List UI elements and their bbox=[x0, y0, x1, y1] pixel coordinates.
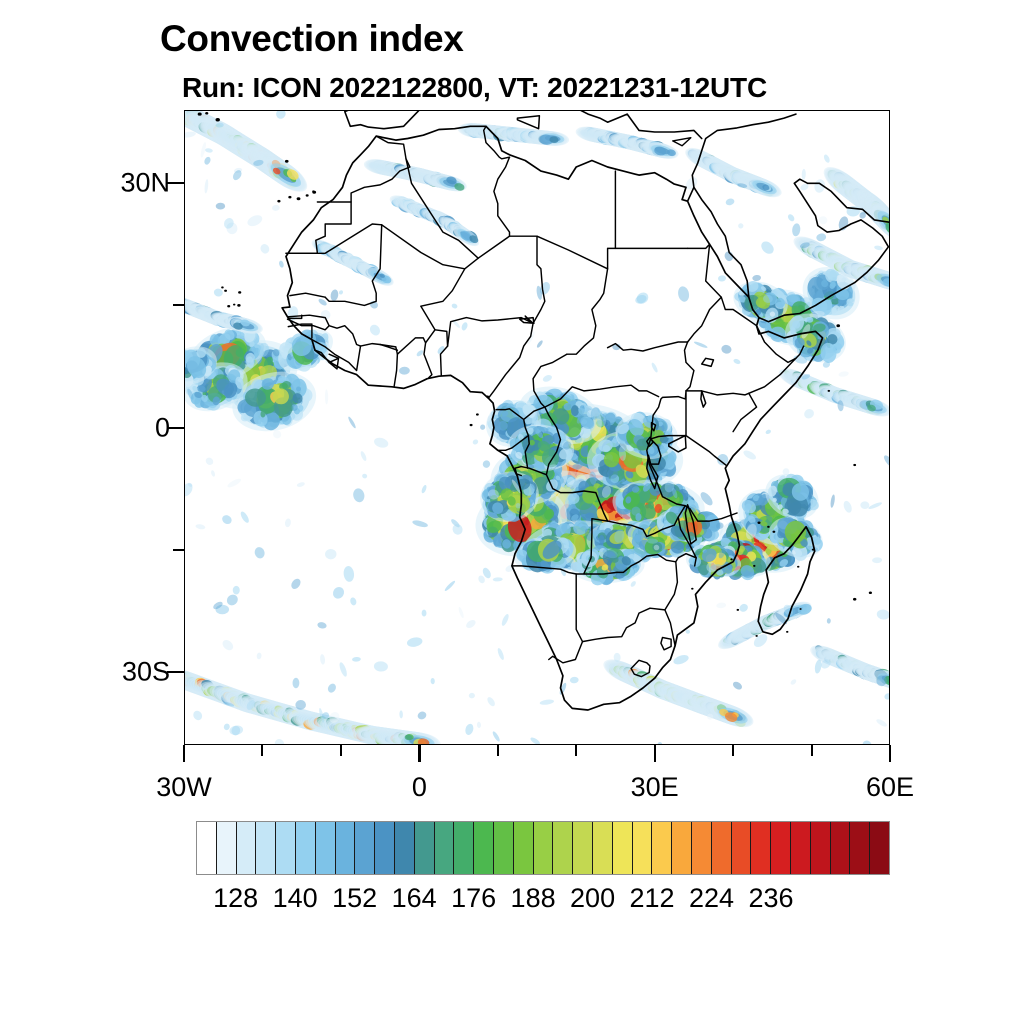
colorbar-cell bbox=[237, 822, 257, 874]
colorbar-cell bbox=[494, 822, 514, 874]
y-tick-label: 30N bbox=[60, 168, 170, 199]
x-tick-minor bbox=[497, 745, 499, 756]
colorbar-cell bbox=[355, 822, 375, 874]
colorbar-cell bbox=[197, 822, 217, 874]
x-tick-label: 30W bbox=[156, 772, 212, 803]
colorbar-tick-label: 224 bbox=[689, 883, 734, 914]
map-plot-area bbox=[184, 110, 890, 745]
colorbar[interactable] bbox=[196, 821, 890, 875]
colorbar-cell bbox=[573, 822, 593, 874]
colorbar-tick-label: 140 bbox=[273, 883, 318, 914]
x-tick-label: 0 bbox=[412, 772, 427, 803]
colorbar-cell bbox=[514, 822, 534, 874]
colorbar-cell bbox=[415, 822, 435, 874]
colorbar-tick-label: 212 bbox=[630, 883, 675, 914]
x-tick-minor bbox=[575, 745, 577, 756]
colorbar-cell bbox=[395, 822, 415, 874]
colorbar-cell bbox=[256, 822, 276, 874]
colorbar-cell bbox=[435, 822, 455, 874]
colorbar-cell bbox=[336, 822, 356, 874]
y-tick-label: 30S bbox=[60, 656, 170, 687]
colorbar-tick-label: 164 bbox=[392, 883, 437, 914]
page-title: Convection index bbox=[160, 18, 464, 60]
y-tick-minor bbox=[173, 304, 184, 306]
colorbar-tick-label: 152 bbox=[332, 883, 377, 914]
colorbar-tick-label: 128 bbox=[213, 883, 258, 914]
x-tick-minor bbox=[261, 745, 263, 756]
colorbar-cell bbox=[553, 822, 573, 874]
colorbar-cell bbox=[850, 822, 870, 874]
colorbar-cell bbox=[474, 822, 494, 874]
x-tick-major bbox=[183, 745, 185, 762]
colorbar-cell bbox=[454, 822, 474, 874]
colorbar-cell bbox=[771, 822, 791, 874]
colorbar-tick-label: 188 bbox=[511, 883, 556, 914]
y-tick-label: 0 bbox=[60, 412, 170, 443]
x-tick-label: 30E bbox=[631, 772, 679, 803]
colorbar-cell bbox=[316, 822, 336, 874]
colorbar-cell bbox=[672, 822, 692, 874]
colorbar-cell bbox=[534, 822, 554, 874]
convection-index-figure: Convection index Run: ICON 2022122800, V… bbox=[0, 0, 1024, 1024]
colorbar-tick-label: 200 bbox=[570, 883, 615, 914]
x-tick-major bbox=[654, 745, 656, 762]
x-tick-major bbox=[889, 745, 891, 762]
x-tick-major bbox=[418, 745, 420, 762]
colorbar-cell bbox=[791, 822, 811, 874]
y-tick-minor bbox=[173, 549, 184, 551]
colorbar-cell bbox=[217, 822, 237, 874]
colorbar-cell bbox=[296, 822, 316, 874]
colorbar-tick-label: 176 bbox=[451, 883, 496, 914]
colorbar-cell bbox=[870, 822, 889, 874]
colorbar-cell bbox=[831, 822, 851, 874]
x-tick-minor bbox=[340, 745, 342, 756]
colorbar-cell bbox=[751, 822, 771, 874]
colorbar-cell bbox=[712, 822, 732, 874]
colorbar-tick-label: 236 bbox=[748, 883, 793, 914]
convection-field bbox=[184, 110, 890, 745]
colorbar-cell bbox=[593, 822, 613, 874]
x-tick-label: 60E bbox=[866, 772, 914, 803]
colorbar-cell bbox=[692, 822, 712, 874]
colorbar-cell bbox=[633, 822, 653, 874]
x-tick-minor bbox=[811, 745, 813, 756]
colorbar-cell bbox=[811, 822, 831, 874]
x-tick-minor bbox=[732, 745, 734, 756]
colorbar-cell bbox=[375, 822, 395, 874]
colorbar-cell bbox=[732, 822, 752, 874]
colorbar-cell bbox=[613, 822, 633, 874]
page-subtitle: Run: ICON 2022122800, VT: 20221231-12UTC bbox=[182, 72, 767, 104]
colorbar-cell bbox=[652, 822, 672, 874]
colorbar-cell bbox=[276, 822, 296, 874]
